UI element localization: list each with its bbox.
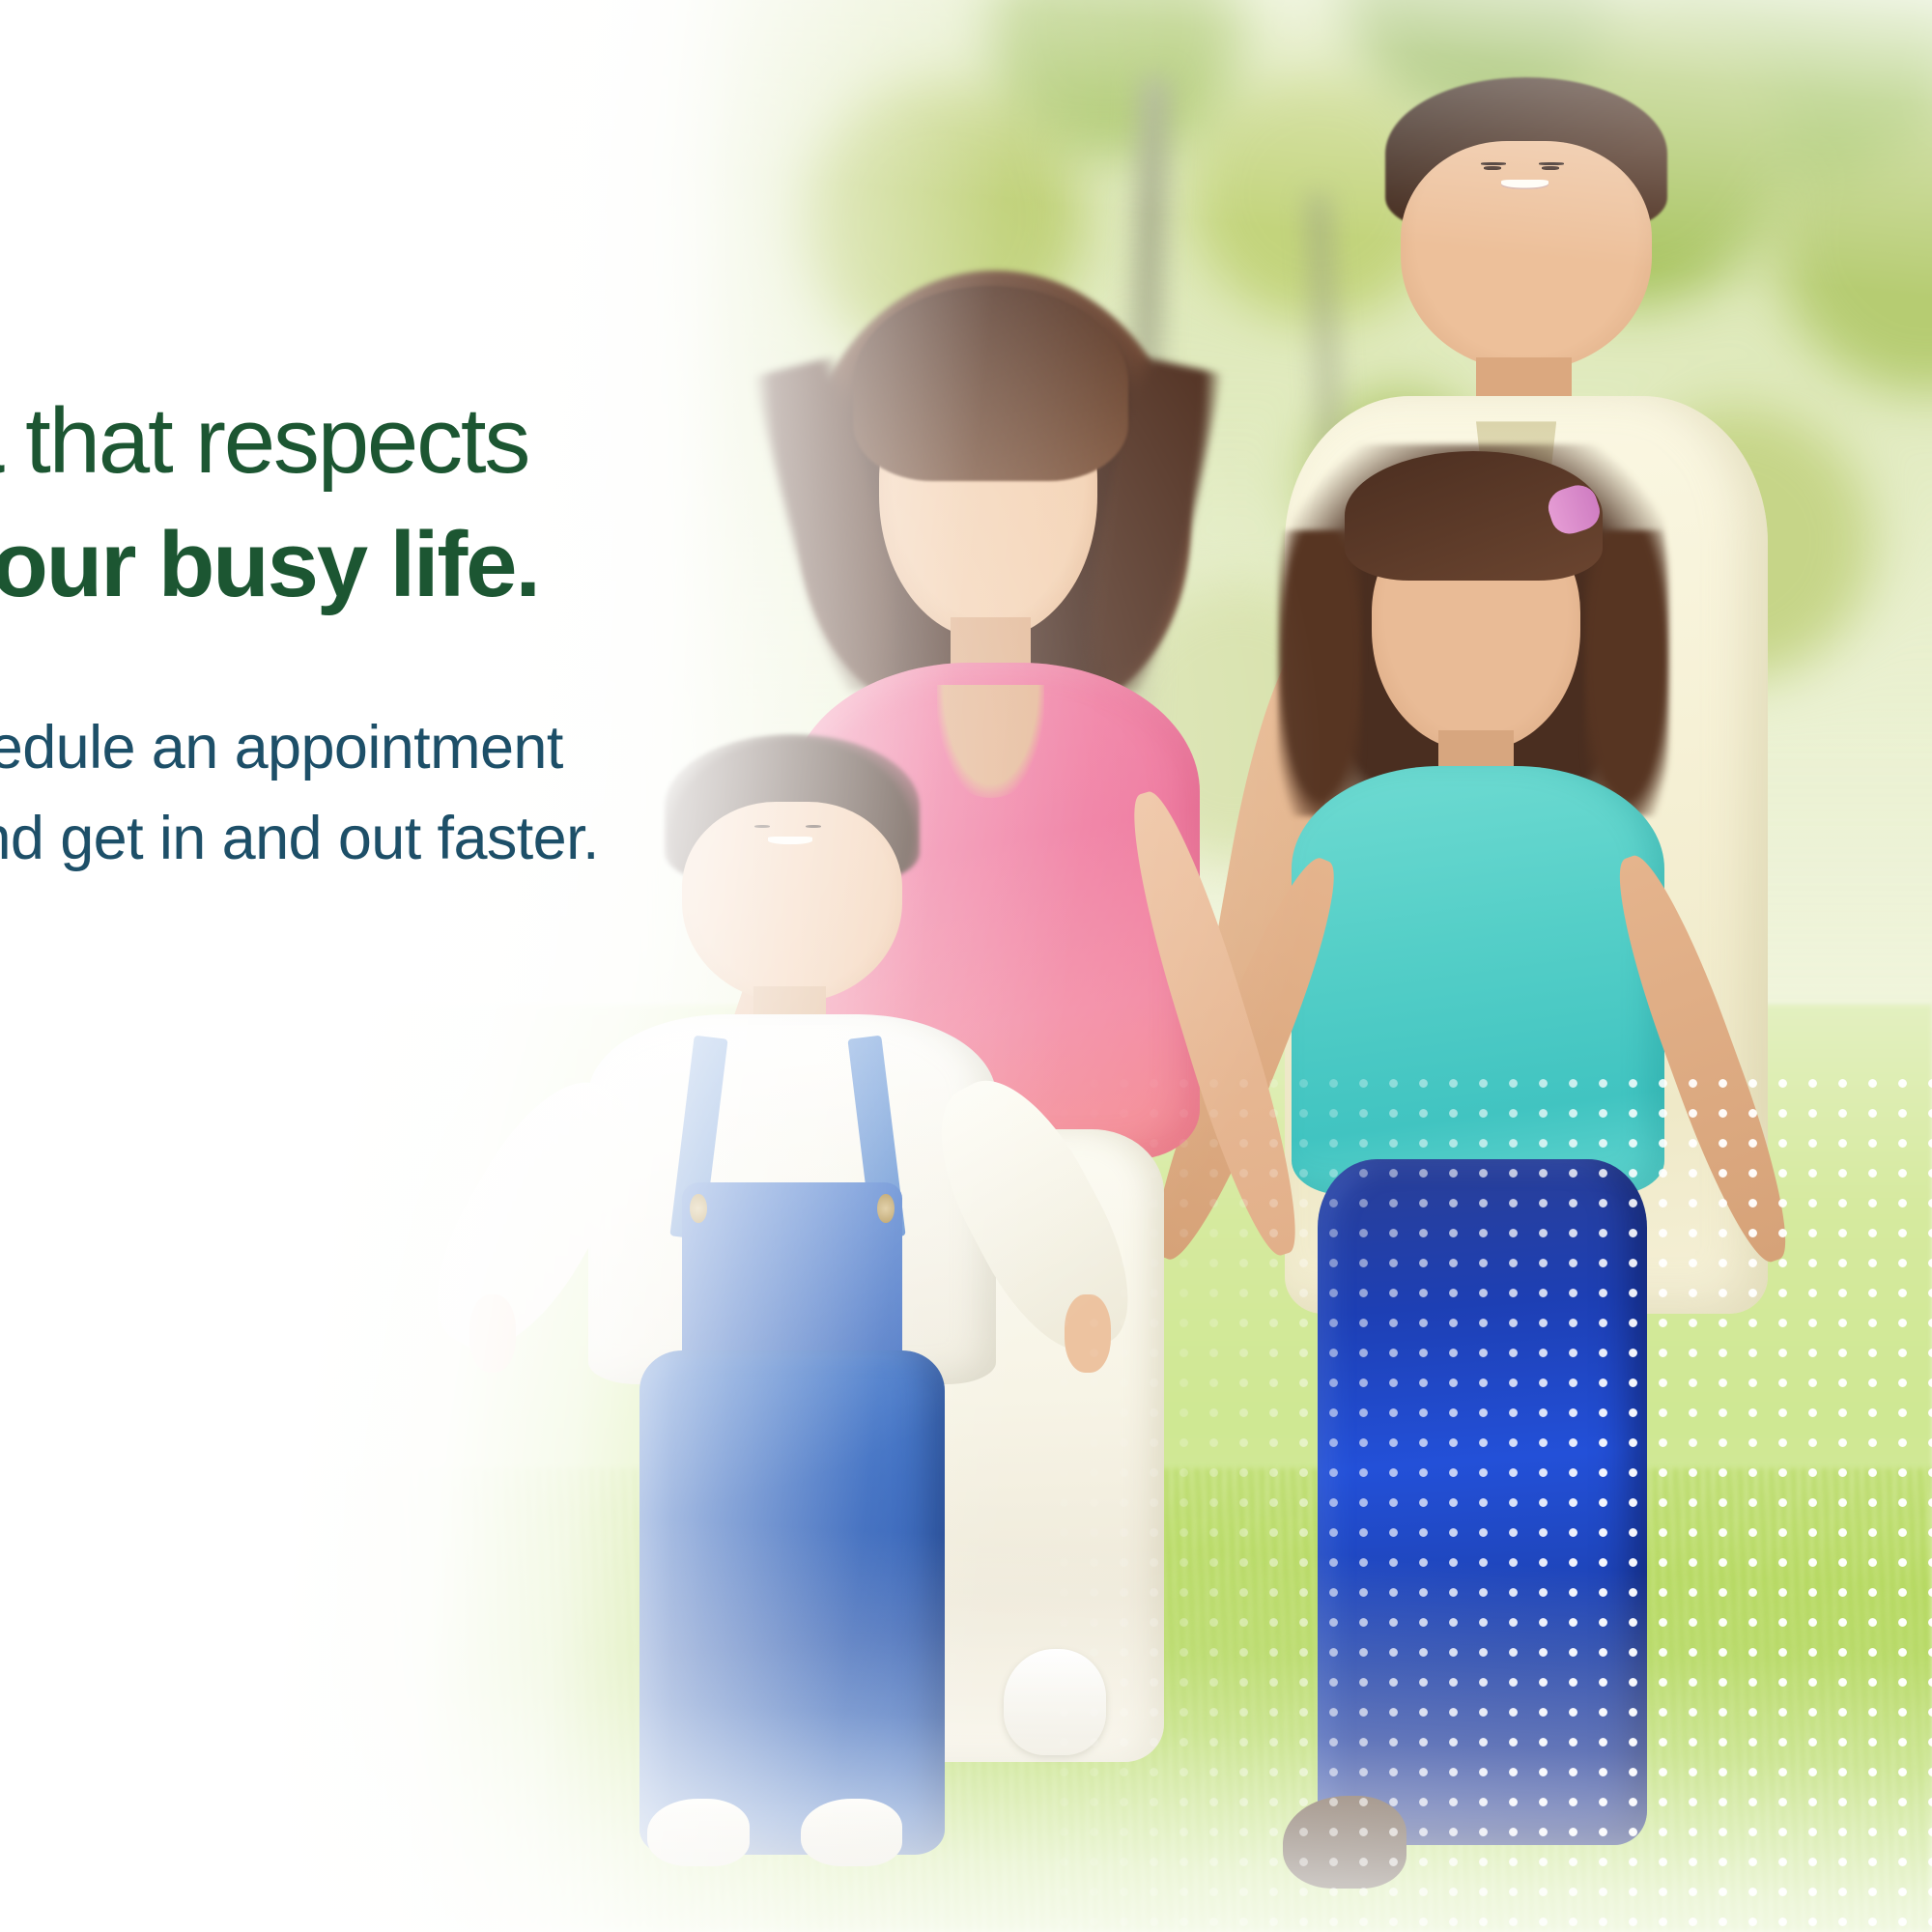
mother-hair-front [853, 286, 1128, 482]
father-smile [1501, 180, 1548, 189]
son-face [682, 802, 903, 1004]
subheadline-line-1: Schedule an appointment [0, 702, 638, 793]
son-hand-right [1065, 1294, 1111, 1373]
person-son [580, 734, 1005, 1855]
father-eye-right [1542, 166, 1559, 170]
headline-line-2: your busy life. [0, 503, 638, 627]
son-overall-button-left [690, 1194, 707, 1223]
daughter-teal-shirt [1292, 766, 1664, 1195]
daughter-jeans [1318, 1159, 1646, 1845]
daughter-curl-right [1584, 530, 1668, 816]
son-denim-overalls [639, 1350, 946, 1855]
headline-line-1-rest: that respects [2, 389, 528, 493]
hero-headline: la that respects your busy life. [0, 380, 638, 627]
son-hand-left [469, 1294, 516, 1373]
father-brow-left [1481, 162, 1506, 165]
person-daughter [1256, 444, 1700, 1874]
father-face [1401, 141, 1652, 371]
father-eye-left [1484, 166, 1501, 170]
subheadline-line-2: and get in and out faster. [0, 793, 638, 884]
son-eye-right [806, 825, 821, 828]
hero-photo [0, 0, 1932, 1932]
hero-banner: la that respects your busy life. Schedul… [0, 0, 1932, 1932]
daughter-curl-left [1278, 530, 1362, 816]
son-smile [768, 837, 812, 844]
hero-subheadline: Schedule an appointment and get in and o… [0, 627, 638, 884]
son-shoe-left [647, 1799, 750, 1866]
mother-shoe-right [1004, 1649, 1106, 1754]
father-brow-right [1539, 162, 1564, 165]
son-overall-button-right [877, 1194, 895, 1223]
headline-line-1: la that respects [0, 380, 638, 503]
son-shoe-right [801, 1799, 903, 1866]
daughter-shoe [1283, 1796, 1407, 1889]
hero-copy-block: la that respects your busy life. Schedul… [0, 380, 638, 884]
son-eye-left [754, 825, 770, 828]
